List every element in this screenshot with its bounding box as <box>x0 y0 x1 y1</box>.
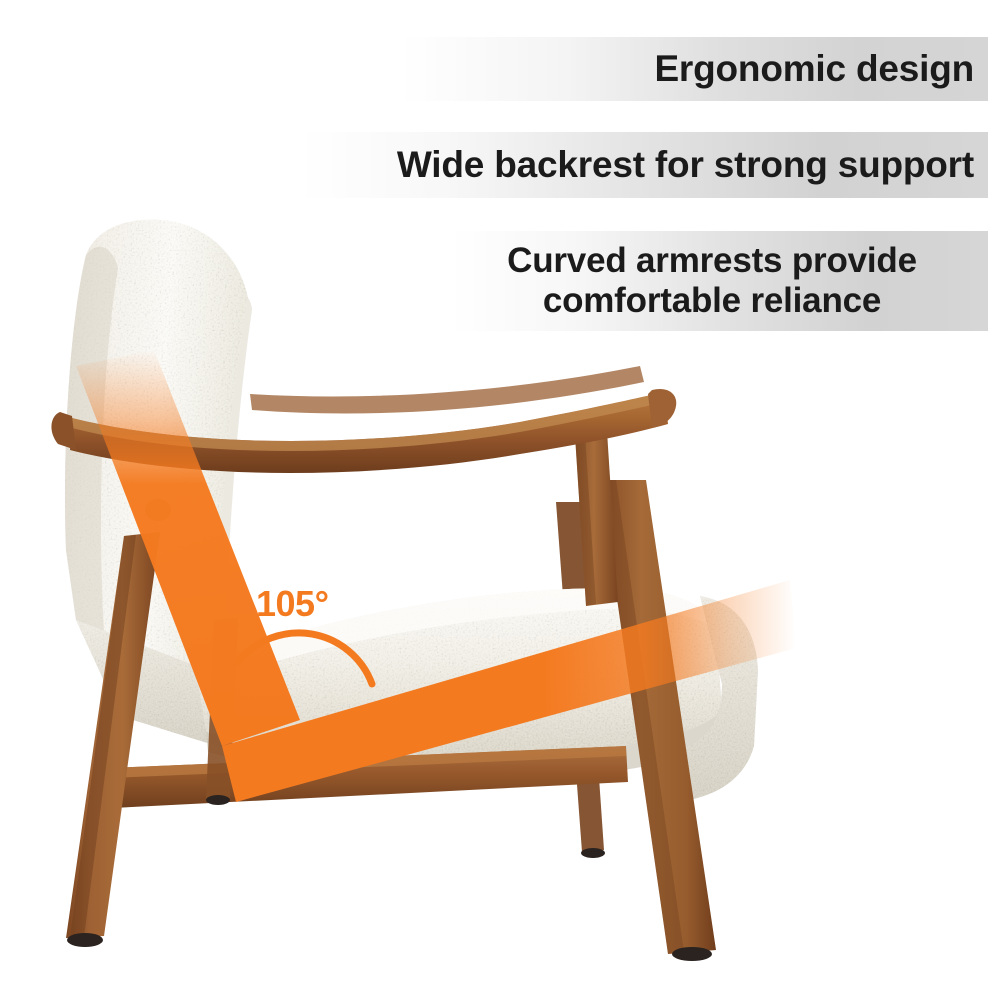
feature-band-curved-armrests: Curved armrests providecomfortable relia… <box>450 231 988 331</box>
feature-text-3-line-2: comfortable reliance <box>543 281 881 320</box>
feature-text-3-line-1: Curved armrests provide <box>507 241 917 280</box>
product-feature-image: 105° Ergonomic design Wide backrest for … <box>0 0 1000 1000</box>
feature-band-wide-backrest: Wide backrest for strong support <box>300 132 988 198</box>
curved-armrest-far <box>250 366 644 414</box>
feature-band-ergonomic-design: Ergonomic design <box>400 37 988 101</box>
feature-text-2: Wide backrest for strong support <box>397 144 974 186</box>
feature-text-1: Ergonomic design <box>654 48 974 90</box>
feature-text-3: Curved armrests providecomfortable relia… <box>450 241 974 321</box>
